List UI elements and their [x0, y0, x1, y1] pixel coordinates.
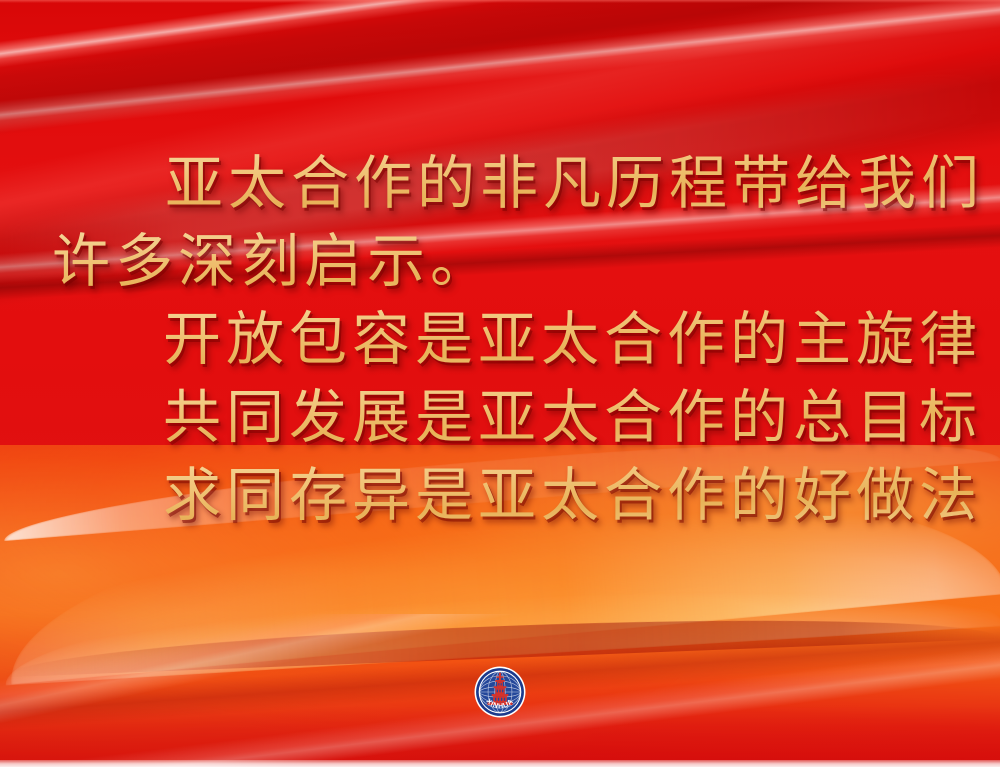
bottom-edge-border	[0, 760, 1000, 767]
slogan-line-2: 许多深刻启示。	[0, 222, 1000, 300]
slogan-line-3: 开放包容是亚太合作的主旋律	[0, 300, 1000, 378]
slogan-line-4: 共同发展是亚太合作的总目标	[0, 378, 1000, 456]
top-edge-highlight	[0, 0, 1000, 3]
slogan-line-5: 求同存异是亚太合作的好做法	[0, 456, 1000, 534]
poster-canvas: 亚太合作的非凡历程带给我们 许多深刻启示。 开放包容是亚太合作的主旋律 共同发展…	[0, 0, 1000, 767]
slogan-line-1: 亚太合作的非凡历程带给我们	[0, 144, 1000, 222]
slogan-text-block: 亚太合作的非凡历程带给我们 许多深刻启示。 开放包容是亚太合作的主旋律 共同发展…	[0, 144, 1000, 534]
xinhua-logo: XINHUA	[474, 666, 526, 718]
